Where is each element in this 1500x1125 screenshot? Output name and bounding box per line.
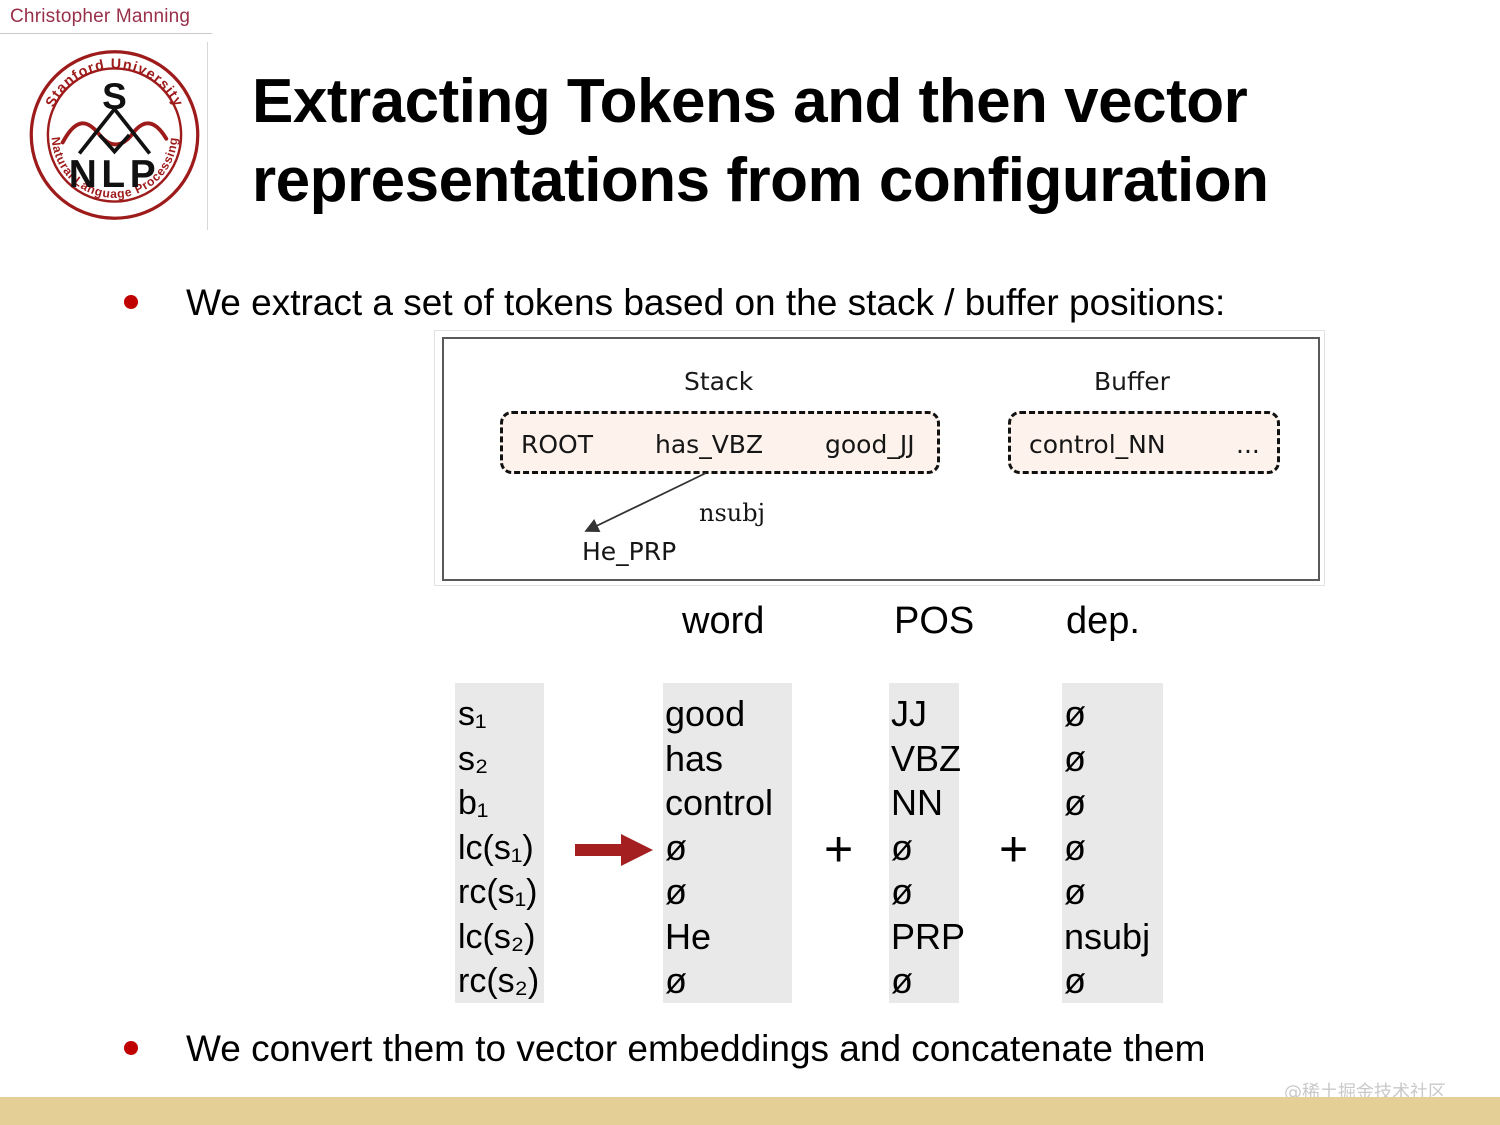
table-row: rc(s₂) — [458, 959, 539, 1004]
extraction-arrow-icon — [575, 832, 655, 868]
bullet-item-2: We convert them to vector embeddings and… — [124, 1028, 1205, 1070]
footer-bar — [0, 1097, 1500, 1125]
table-row: s₂ — [458, 737, 539, 782]
plus-operator-1: + — [824, 824, 853, 874]
dep-value-column: ø ø ø ø ø nsubj ø — [1064, 692, 1150, 1004]
table-row: b₁ — [458, 781, 539, 826]
buffer-token-group: control_NN ... — [1008, 411, 1280, 474]
stanford-nlp-logo: Stanford University Natural Language Pro… — [22, 42, 208, 230]
table-cell-dep: ø — [1064, 737, 1150, 782]
column-header-pos: POS — [894, 600, 974, 643]
table-cell-word: control — [665, 781, 773, 826]
bullet-item-1: We extract a set of tokens based on the … — [124, 282, 1225, 324]
table-cell-word: He — [665, 915, 773, 960]
table-cell-dep: ø — [1064, 826, 1150, 871]
stack-token-has-vbz: has_VBZ — [655, 430, 763, 459]
stack-token-root: ROOT — [521, 430, 593, 459]
dependency-label-nsubj: nsubj — [699, 499, 765, 527]
header-divider — [0, 33, 212, 34]
table-cell-word: good — [665, 692, 773, 737]
table-cell-pos: ø — [891, 870, 965, 915]
stack-token-group: ROOT has_VBZ good_JJ — [500, 411, 940, 474]
page-title: Extracting Tokens and then vector repres… — [252, 62, 1332, 221]
configuration-diagram-frame: Stack Buffer ROOT has_VBZ good_JJ contro… — [442, 337, 1320, 581]
stack-caption: Stack — [684, 367, 753, 396]
svg-text:S: S — [102, 76, 127, 117]
table-row: rc(s₁) — [458, 870, 539, 915]
table-row: s₁ — [458, 692, 539, 737]
buffer-token-ellipsis: ... — [1236, 430, 1260, 459]
column-header-dep: dep. — [1066, 600, 1140, 643]
bullet-dot-icon — [124, 295, 138, 309]
table-cell-pos: NN — [891, 781, 965, 826]
bullet-text-2: We convert them to vector embeddings and… — [186, 1028, 1205, 1070]
buffer-caption: Buffer — [1094, 367, 1170, 396]
table-cell-dep: nsubj — [1064, 915, 1150, 960]
table-cell-dep: ø — [1064, 692, 1150, 737]
table-cell-word: ø — [665, 959, 773, 1004]
column-header-word: word — [682, 600, 764, 643]
table-cell-word: ø — [665, 870, 773, 915]
stanford-nlp-logo-icon: Stanford University Natural Language Pro… — [22, 42, 207, 228]
table-cell-dep: ø — [1064, 959, 1150, 1004]
table-cell-pos: ø — [891, 959, 965, 1004]
table-cell-dep: ø — [1064, 781, 1150, 826]
table-cell-pos: ø — [891, 826, 965, 871]
svg-text:NLP: NLP — [69, 153, 161, 196]
position-label-column: s₁ s₂ b₁ lc(s₁) rc(s₁) lc(s₂) rc(s₂) — [458, 692, 539, 1004]
dependent-token-he-prp: He_PRP — [582, 537, 676, 566]
table-cell-pos: PRP — [891, 915, 965, 960]
table-cell-pos: JJ — [891, 692, 965, 737]
word-value-column: good has control ø ø He ø — [665, 692, 773, 1004]
pos-value-column: JJ VBZ NN ø ø PRP ø — [891, 692, 965, 1004]
bullet-dot-icon — [124, 1041, 138, 1055]
table-cell-word: has — [665, 737, 773, 782]
table-cell-pos: VBZ — [891, 737, 965, 782]
stack-token-good-jj: good_JJ — [825, 430, 915, 459]
table-cell-word: ø — [665, 826, 773, 871]
table-row: lc(s₁) — [458, 826, 539, 871]
table-row: lc(s₂) — [458, 915, 539, 960]
plus-operator-2: + — [999, 824, 1028, 874]
table-cell-dep: ø — [1064, 870, 1150, 915]
buffer-token-control-nn: control_NN — [1029, 430, 1166, 459]
configuration-diagram: Stack Buffer ROOT has_VBZ good_JJ contro… — [434, 330, 1325, 586]
presenter-name: Christopher Manning — [10, 6, 190, 28]
bullet-text-1: We extract a set of tokens based on the … — [186, 282, 1225, 324]
